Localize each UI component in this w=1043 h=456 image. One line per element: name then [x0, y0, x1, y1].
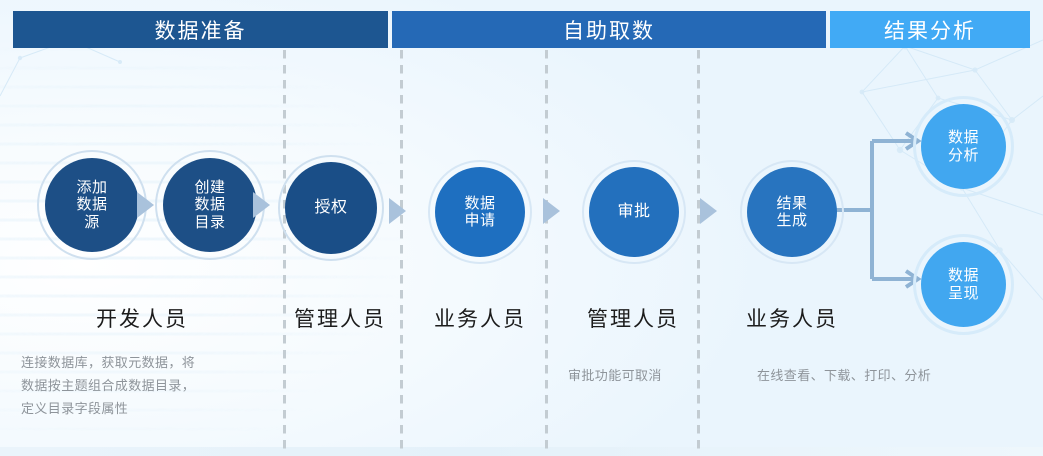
node-label-line: 生成 [776, 212, 807, 229]
node-approval[interactable]: 审批 [589, 167, 679, 257]
role-label-text: 管理人员 [587, 308, 679, 331]
role-label-business: 业务人员 [425, 303, 535, 333]
description-line: 连接数据库，获取元数据，将 [21, 352, 273, 375]
stage-banner-label: 结果分析 [884, 15, 976, 45]
node-label-line: 呈现 [948, 285, 979, 302]
node-label-line: 添加 [76, 179, 107, 196]
stage-banner-data-preparation: 数据准备 [13, 11, 388, 48]
stage-banner-result-analysis: 结果分析 [830, 11, 1030, 48]
node-label-line: 审批 [617, 203, 650, 222]
branch-arrow-icon [906, 133, 918, 287]
role-label-text: 管理人员 [294, 308, 386, 331]
stage-banner-label: 自助取数 [563, 15, 655, 45]
description-data-preparation: 连接数据库，获取元数据，将 数据按主题组合成数据目录， 定义目录字段属性 [21, 352, 273, 420]
node-label-line: 数据 [194, 196, 225, 213]
flow-arrow-icon [700, 198, 717, 224]
node-add-data-source[interactable]: 添加 数据 源 [45, 158, 139, 252]
flow-arrow-icon [543, 198, 560, 224]
node-data-presentation[interactable]: 数据 呈现 [921, 242, 1006, 327]
node-label-line: 数据 [464, 195, 495, 212]
node-label-line: 授权 [314, 199, 347, 218]
description-line: 数据按主题组合成数据目录， [21, 375, 273, 398]
description-line: 审批功能可取消 [568, 365, 728, 388]
node-data-request[interactable]: 数据 申请 [435, 167, 525, 257]
node-data-analysis[interactable]: 数据 分析 [921, 104, 1006, 189]
node-label-line: 源 [76, 214, 107, 231]
role-label-text: 业务人员 [746, 308, 838, 331]
node-label-line: 分析 [948, 147, 979, 164]
process-flow-diagram: 数据准备 自助取数 结果分析 添加 数据 源 [0, 0, 1043, 456]
node-label-line: 数据 [948, 267, 979, 284]
flow-arrow-icon [253, 192, 270, 218]
node-label-line: 申请 [464, 212, 495, 229]
flow-arrow-icon [389, 198, 406, 224]
node-label-line: 数据 [76, 196, 107, 213]
description-approval: 审批功能可取消 [568, 365, 728, 388]
lane-divider [400, 50, 403, 450]
stage-banner-self-service-extraction: 自助取数 [392, 11, 826, 48]
node-label-line: 数据 [948, 129, 979, 146]
role-label-administrator: 管理人员 [285, 303, 395, 333]
flow-arrow-icon [137, 192, 154, 218]
stage-banner-label: 数据准备 [155, 15, 247, 45]
node-result-generation[interactable]: 结果 生成 [747, 167, 837, 257]
description-result: 在线查看、下载、打印、分析 [757, 365, 987, 388]
role-label-administrator: 管理人员 [578, 303, 688, 333]
description-line: 在线查看、下载、打印、分析 [757, 365, 987, 388]
node-label-line: 目录 [194, 214, 225, 231]
node-authorize[interactable]: 授权 [285, 162, 377, 254]
role-label-text: 业务人员 [434, 308, 526, 331]
lane-divider [283, 50, 286, 450]
description-line: 定义目录字段属性 [21, 398, 273, 421]
lane-divider [697, 50, 700, 450]
role-label-developer: 开发人员 [36, 303, 248, 333]
lane-divider [545, 50, 548, 450]
background-footer-band [0, 447, 1043, 456]
node-create-catalog[interactable]: 创建 数据 目录 [163, 158, 257, 252]
node-label-line: 结果 [776, 195, 807, 212]
role-label-text: 开发人员 [96, 308, 188, 331]
role-label-business: 业务人员 [737, 303, 847, 333]
node-label-line: 创建 [194, 179, 225, 196]
